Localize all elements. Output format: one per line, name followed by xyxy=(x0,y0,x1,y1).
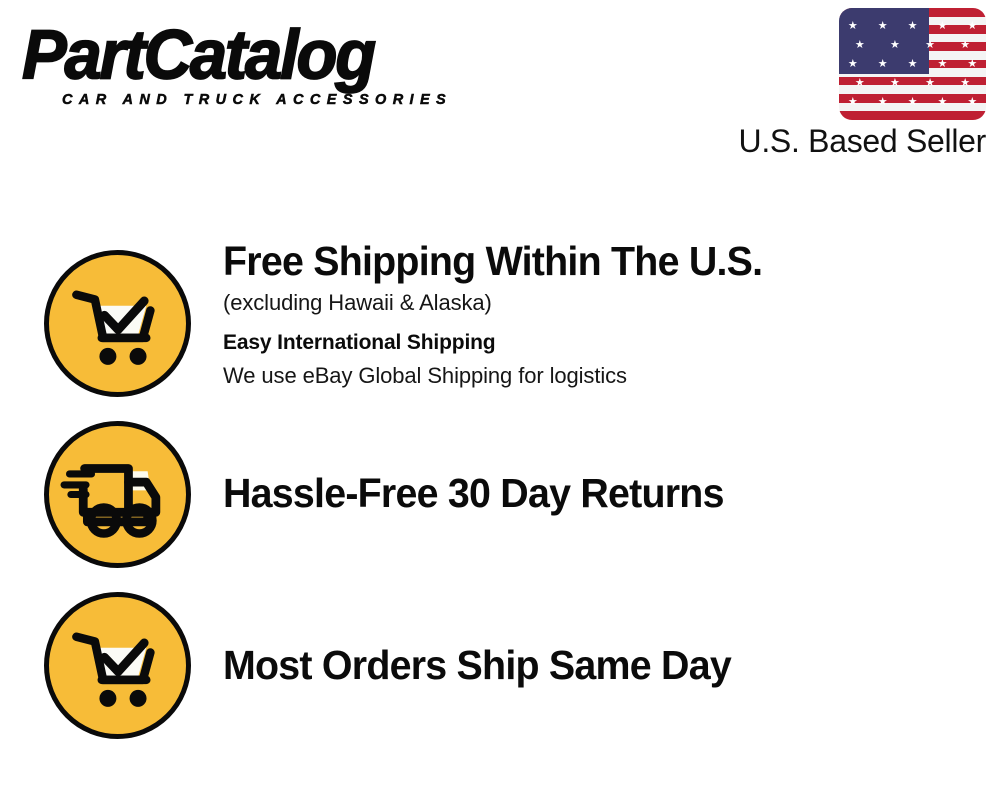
feature-subtext: We use eBay Global Shipping for logistic… xyxy=(223,359,963,393)
feature-subheading: Easy International Shipping xyxy=(223,326,963,359)
delivery-truck-icon xyxy=(44,421,191,568)
feature-text-free-shipping: Free Shipping Within The U.S. (excluding… xyxy=(223,236,963,393)
feature-list: Free Shipping Within The U.S. (excluding… xyxy=(0,0,1000,800)
promo-banner: PartCatalog CAR AND TRUCK ACCESSORIES ★★… xyxy=(0,0,1000,800)
feature-text-returns: Hassle-Free 30 Day Returns xyxy=(223,468,963,518)
feature-text-same-day: Most Orders Ship Same Day xyxy=(223,640,963,690)
shopping-cart-check-icon xyxy=(44,592,191,739)
shopping-cart-check-icon xyxy=(44,250,191,397)
feature-headline: Free Shipping Within The U.S. xyxy=(223,236,933,286)
feature-note: (excluding Hawaii & Alaska) xyxy=(223,286,963,320)
feature-headline: Most Orders Ship Same Day xyxy=(223,640,933,690)
feature-headline: Hassle-Free 30 Day Returns xyxy=(223,468,933,518)
